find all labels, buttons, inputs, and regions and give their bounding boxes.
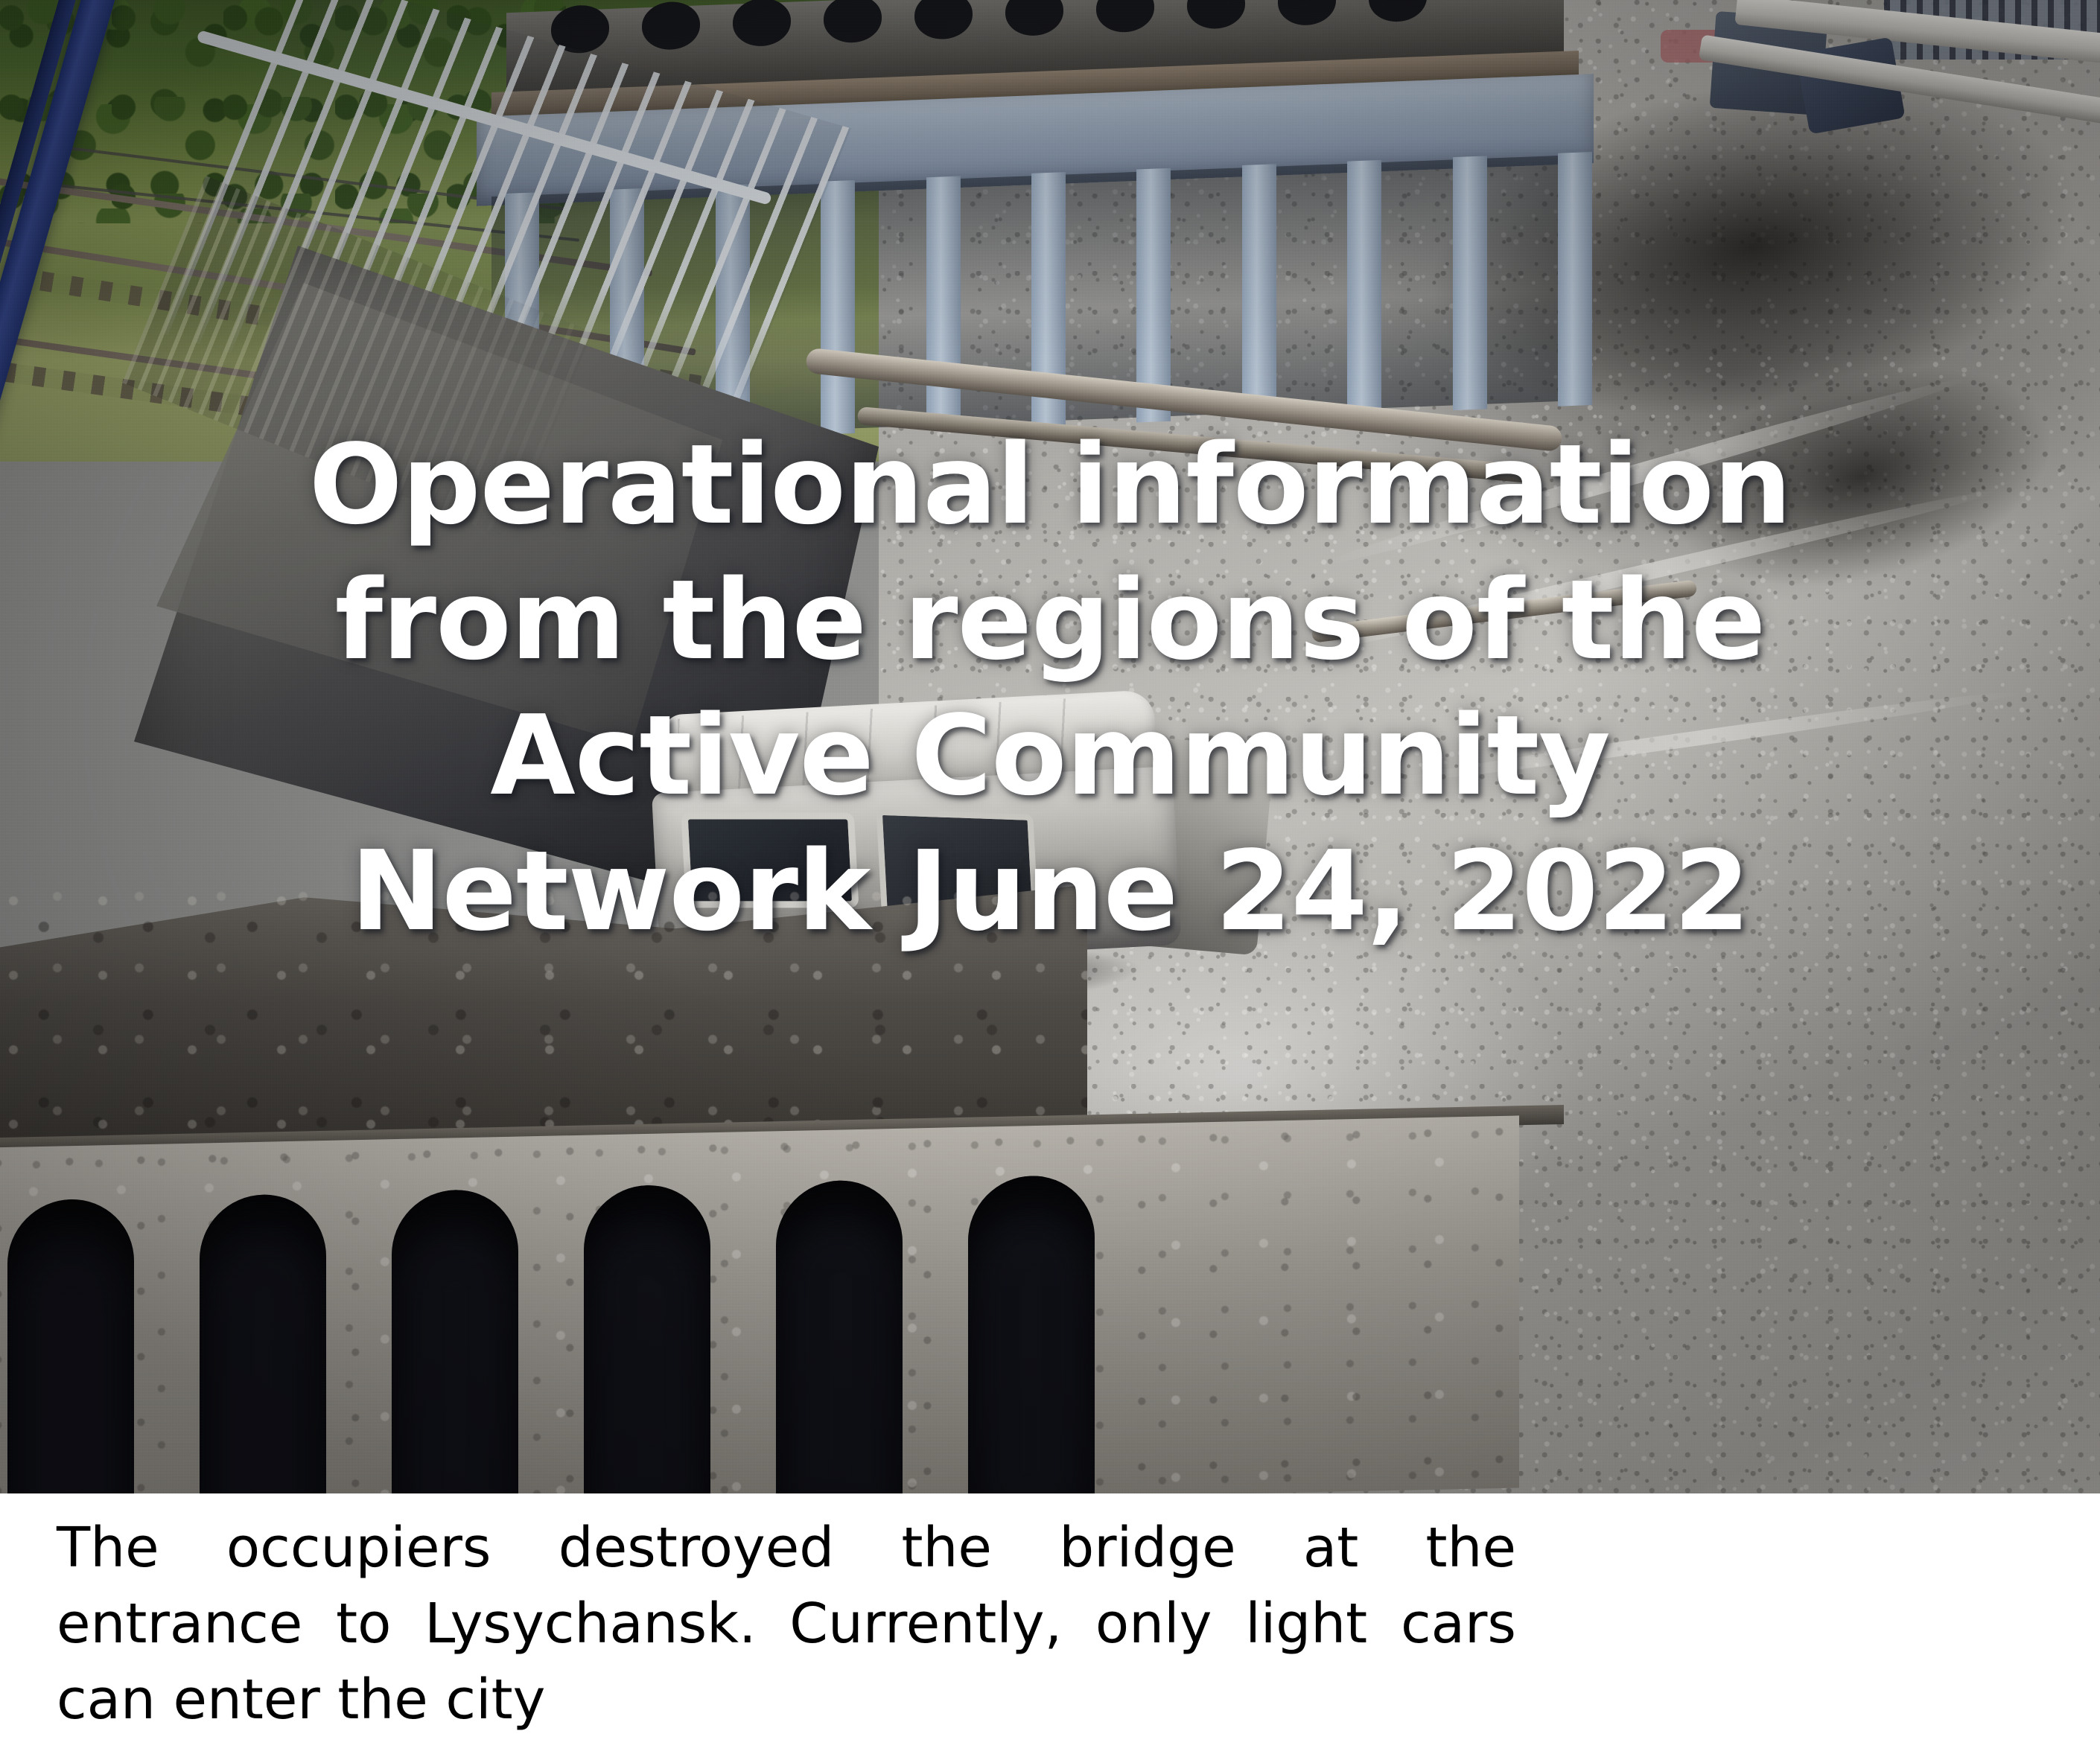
poster: Operational information from the regions… xyxy=(0,0,2100,1760)
caption-text: The occupiers destroyed the bridge at th… xyxy=(57,1510,1516,1738)
background-photo xyxy=(0,0,2100,1493)
photo-vignette xyxy=(0,0,2100,1493)
caption-bar: The occupiers destroyed the bridge at th… xyxy=(0,1493,2100,1760)
caption-line-3: can enter the city xyxy=(57,1662,1516,1738)
caption-line-2: entrance to Lysychansk. Currently, only … xyxy=(57,1586,1516,1662)
caption-line-1: The occupiers destroyed the bridge at th… xyxy=(57,1510,1516,1586)
